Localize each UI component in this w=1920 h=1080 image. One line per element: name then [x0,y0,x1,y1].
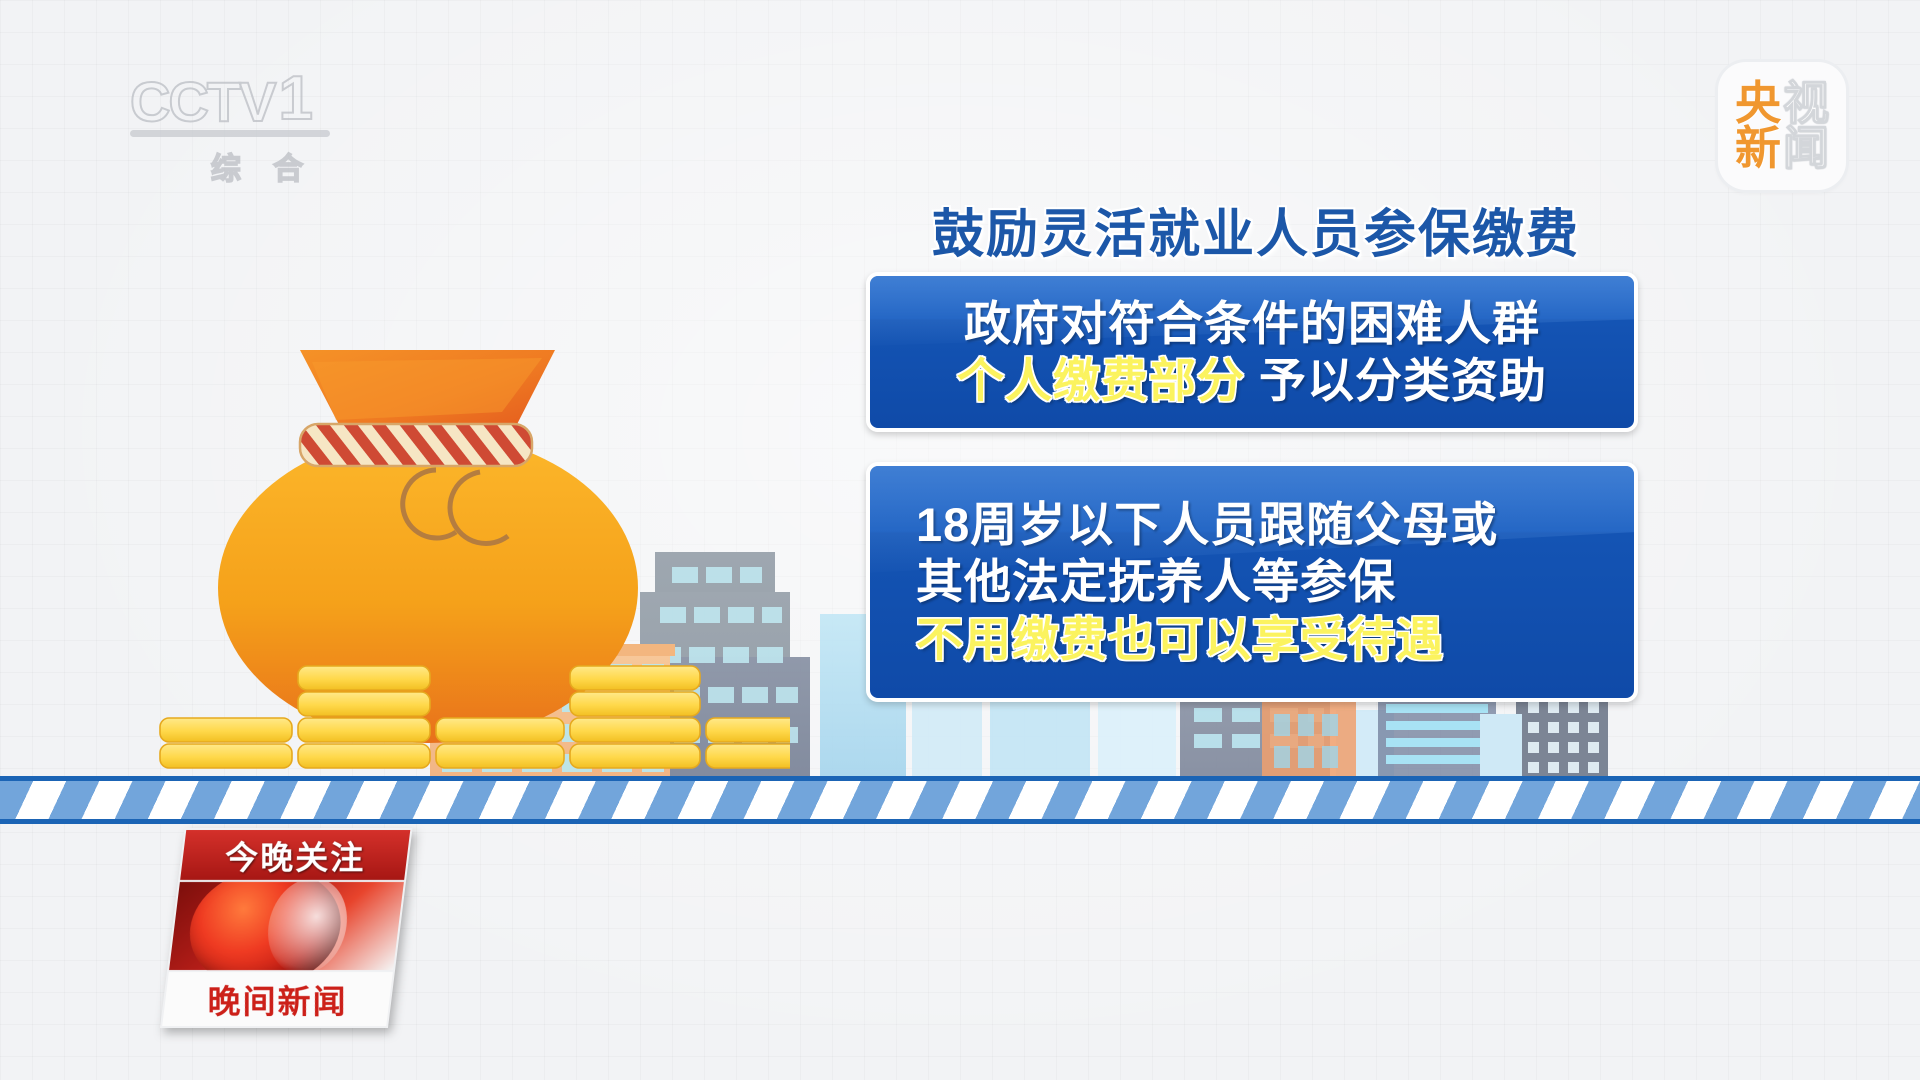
news-logo-row-1: 央 视 [1735,81,1829,126]
news-logo-char-xin: 新 [1735,126,1781,171]
money-bag-illustration [150,320,790,790]
news-logo-row-2: 新 闻 [1735,126,1829,171]
info-panel-minors-coverage: 18周岁以下人员跟随父母或 其他法定抚养人等参保 不用缴费也可以享受待遇 [866,462,1638,702]
stripe-diagonal-fill [0,781,1920,819]
bottom-stripe-band [0,776,1920,824]
news-logo-char-wen: 闻 [1783,126,1829,171]
cctv-channel-logo: CCTV 1 综 合 [130,68,370,190]
program-bug-bottom-label: 晚间新闻 [208,975,348,1023]
page-title: 鼓励灵活就业人员参保缴费 [866,192,1646,267]
cctv-channel-number: 1 [278,68,310,130]
program-bug-top-label: 今晚关注 [225,831,365,879]
program-bug-graphic [167,882,406,970]
globe-icon [183,882,348,970]
panel1-line-2-rest: 予以分类资助 [1245,354,1547,407]
panel1-line-1: 政府对符合条件的困难人群 [964,295,1540,352]
panel1-highlight-text: 个人缴费部分 [957,354,1245,407]
stripe-bottom-edge [0,819,1920,824]
program-bug-top-bar: 今晚关注 [178,828,413,882]
cctv-underline [130,130,330,137]
panel2-line-1: 18周岁以下人员跟随父母或 [916,496,1498,553]
panel2-line-2: 其他法定抚养人等参保 [916,553,1396,610]
panel2-line-3: 不用缴费也可以享受待遇 [916,611,1444,668]
program-logo-bug: 今晚关注 晚间新闻 [159,828,412,1032]
news-logo-char-shi: 视 [1783,81,1829,126]
panel1-line-2: 个人缴费部分 予以分类资助 [957,352,1547,409]
cctv-wordmark: CCTV [130,74,274,130]
cctv-news-logo: 央 视 新 闻 [1718,62,1846,190]
news-logo-char-yang: 央 [1735,81,1781,126]
info-panel-policy-subsidy: 政府对符合条件的困难人群 个人缴费部分 予以分类资助 [866,272,1638,432]
cctv-channel-subtitle: 综 合 [130,144,370,188]
program-bug-bottom-bar: 晚间新闻 [160,970,395,1028]
